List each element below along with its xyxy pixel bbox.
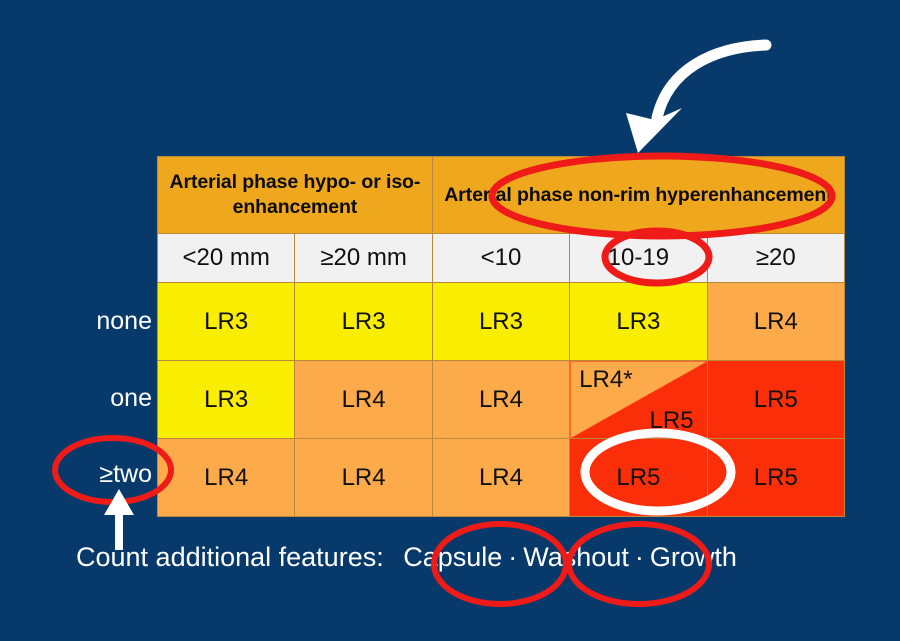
cell-two-ge20mm: LR4 <box>295 439 432 517</box>
caption-feature-washout: Washout <box>523 542 629 573</box>
table-row: LR3 LR3 LR3 LR3 LR4 <box>158 283 845 361</box>
caption: Count additional features: Capsule·Washo… <box>76 542 737 573</box>
cell-none-ge20: LR4 <box>707 283 844 361</box>
row-label-one: one <box>12 384 152 413</box>
header-hyperenhancement: Arterial phase non-rim hyperenhancement <box>432 157 844 234</box>
subheader-10-19: 10-19 <box>570 234 707 283</box>
cell-two-ge20: LR5 <box>707 439 844 517</box>
caption-feature-capsule: Capsule <box>403 542 502 573</box>
cell-one-10-19-lr4: LR4* <box>579 366 632 394</box>
curved-arrow-to-header <box>626 45 766 153</box>
cell-none-lt10: LR3 <box>432 283 569 361</box>
cell-none-lt20mm: LR3 <box>158 283 295 361</box>
cell-one-ge20: LR5 <box>707 361 844 439</box>
cell-none-ge20mm: LR3 <box>295 283 432 361</box>
table-row: LR4 LR4 LR4 LR5 LR5 <box>158 439 845 517</box>
row-label-none: none <box>12 307 152 336</box>
cell-one-lt10: LR4 <box>432 361 569 439</box>
lirads-table: Arterial phase hypo- or iso-enhancement … <box>157 156 845 517</box>
cell-one-ge20mm: LR4 <box>295 361 432 439</box>
cell-none-10-19: LR3 <box>570 283 707 361</box>
cell-two-10-19: LR5 <box>570 439 707 517</box>
table-header-row: Arterial phase hypo- or iso-enhancement … <box>158 157 845 234</box>
cell-two-lt10: LR4 <box>432 439 569 517</box>
subheader-ge20mm: ≥20 mm <box>295 234 432 283</box>
caption-feature-growth: Growth <box>650 542 737 573</box>
header-hypo-iso: Arterial phase hypo- or iso-enhancement <box>158 157 433 234</box>
cell-two-lt20mm: LR4 <box>158 439 295 517</box>
subheader-lt10: <10 <box>432 234 569 283</box>
table-row: LR3 LR4 LR4 LR4* LR5 LR5 <box>158 361 845 439</box>
table-subheader-row: <20 mm ≥20 mm <10 10-19 ≥20 <box>158 234 845 283</box>
cell-one-10-19-split: LR4* LR5 <box>570 361 707 439</box>
caption-separator-2: · <box>629 542 650 573</box>
subheader-ge20: ≥20 <box>707 234 844 283</box>
cell-one-10-19-lr5: LR5 <box>650 407 694 435</box>
caption-separator-1: · <box>502 542 523 573</box>
row-label-two: ≥two <box>12 460 152 489</box>
subheader-lt20mm: <20 mm <box>158 234 295 283</box>
cell-one-lt20mm: LR3 <box>158 361 295 439</box>
caption-prefix: Count additional features: <box>76 542 384 573</box>
figure-root: Arterial phase hypo- or iso-enhancement … <box>0 0 900 641</box>
